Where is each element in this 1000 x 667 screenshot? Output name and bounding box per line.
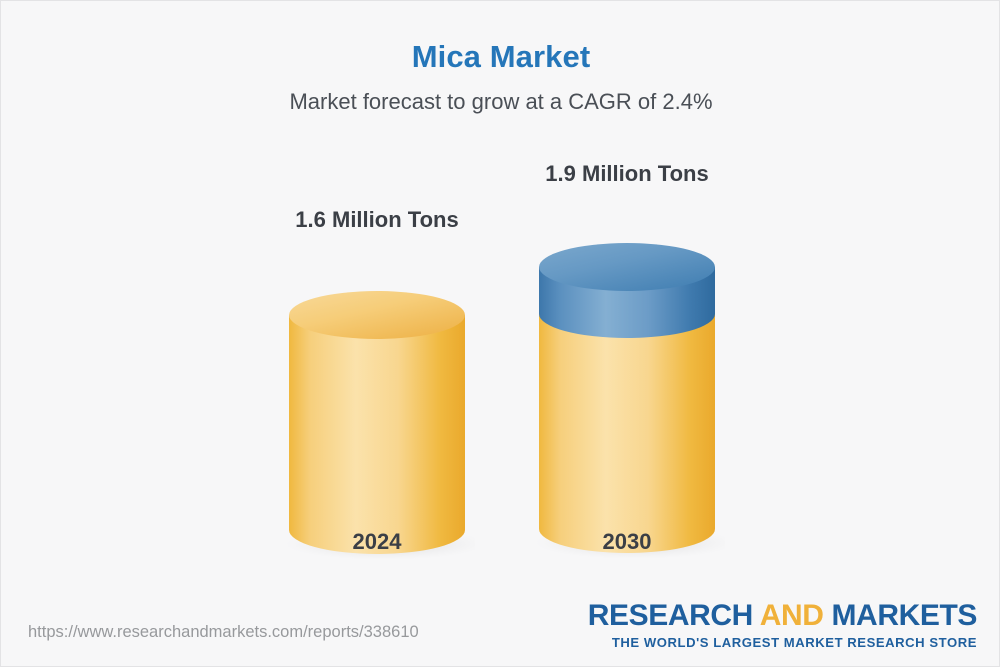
cylinder-body-2024 [289,315,465,554]
bar-value-label-2024: 1.6 Million Tons [247,207,507,233]
source-url[interactable]: https://www.researchandmarkets.com/repor… [28,623,419,642]
cylinder-2024 [279,244,475,574]
cylinder-2030 [529,196,725,573]
bar-group-2024: 1.6 Million Tons [289,196,465,536]
cylinder-top-2030 [539,243,715,291]
cylinder-top-2024 [289,291,465,339]
logo-wordmark: RESEARCH AND MARKETS [588,601,977,631]
logo-word-markets: MARKETS [824,599,977,632]
plot-area: 1.6 Million Tons [1,1,1000,601]
bar-value-label-2030: 1.9 Million Tons [497,161,757,187]
logo-word-and: AND [760,599,824,632]
bar-category-label-2024: 2024 [277,529,477,555]
bar-group-2030: 1.9 Million Tons [539,149,715,536]
logo-tagline: THE WORLD'S LARGEST MARKET RESEARCH STOR… [588,636,977,649]
logo-word-research: RESEARCH [588,599,760,632]
bar-category-label-2030: 2030 [527,529,727,555]
research-and-markets-logo[interactable]: RESEARCH AND MARKETS THE WORLD'S LARGEST… [588,601,977,649]
cylinder-body-base-2030 [539,314,715,553]
infographic-canvas: Mica Market Market forecast to grow at a… [0,0,1000,667]
